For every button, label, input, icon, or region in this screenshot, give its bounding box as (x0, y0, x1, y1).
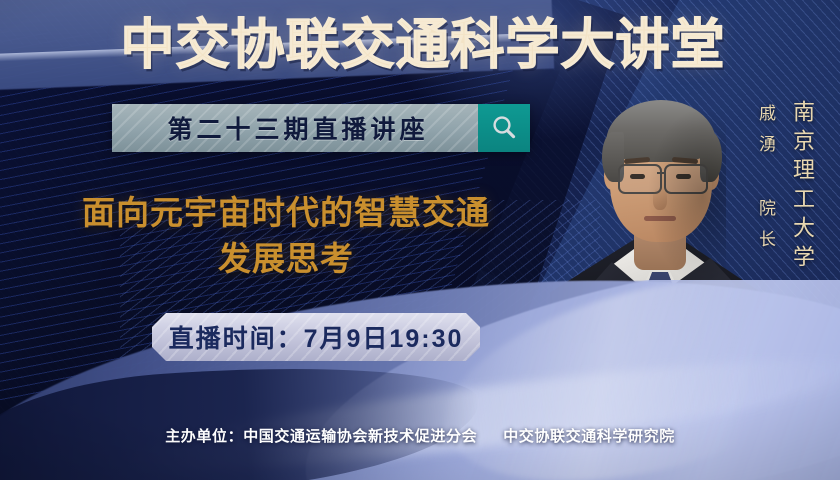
silk-ribbon-graphic (0, 280, 840, 480)
speaker-name-title: 戚湧 院长 (753, 104, 778, 261)
lecture-title-line1: 面向元宇宙时代的智慧交通 (82, 194, 490, 231)
webinar-poster: 中交协联交通科学大讲堂 第二十三期直播讲座 面向元宇宙时代的智慧交通 发展思考 … (0, 0, 840, 480)
organizer-primary: 主办单位：中国交通运输协会新技术促进分会 (165, 428, 477, 445)
session-banner-label: 第二十三期直播讲座 (161, 110, 428, 146)
portrait-mouth (644, 216, 676, 221)
session-banner: 第二十三期直播讲座 (112, 104, 530, 152)
portrait-glasses-right (664, 164, 708, 194)
page-title: 中交协联交通科学大讲堂 (0, 14, 840, 76)
portrait-glasses-bridge (657, 172, 666, 174)
broadcast-time-badge: 直播时间：7月9日19:30 (152, 313, 480, 361)
lecture-title: 面向元宇宙时代的智慧交通 发展思考 (26, 190, 546, 282)
portrait-nose (653, 188, 667, 210)
organizer-secondary: 中交协联交通科学研究院 (503, 428, 675, 445)
broadcast-time-label: 直播时间：7月9日19:30 (169, 319, 464, 355)
session-banner-body: 第二十三期直播讲座 (112, 104, 478, 152)
lecture-title-line2: 发展思考 (26, 236, 546, 282)
search-icon (478, 104, 530, 152)
speaker-affiliation: 南京理工大学 (786, 100, 818, 274)
organizer-footer: 主办单位：中国交通运输协会新技术促进分会中交协联交通科学研究院 (0, 425, 840, 446)
